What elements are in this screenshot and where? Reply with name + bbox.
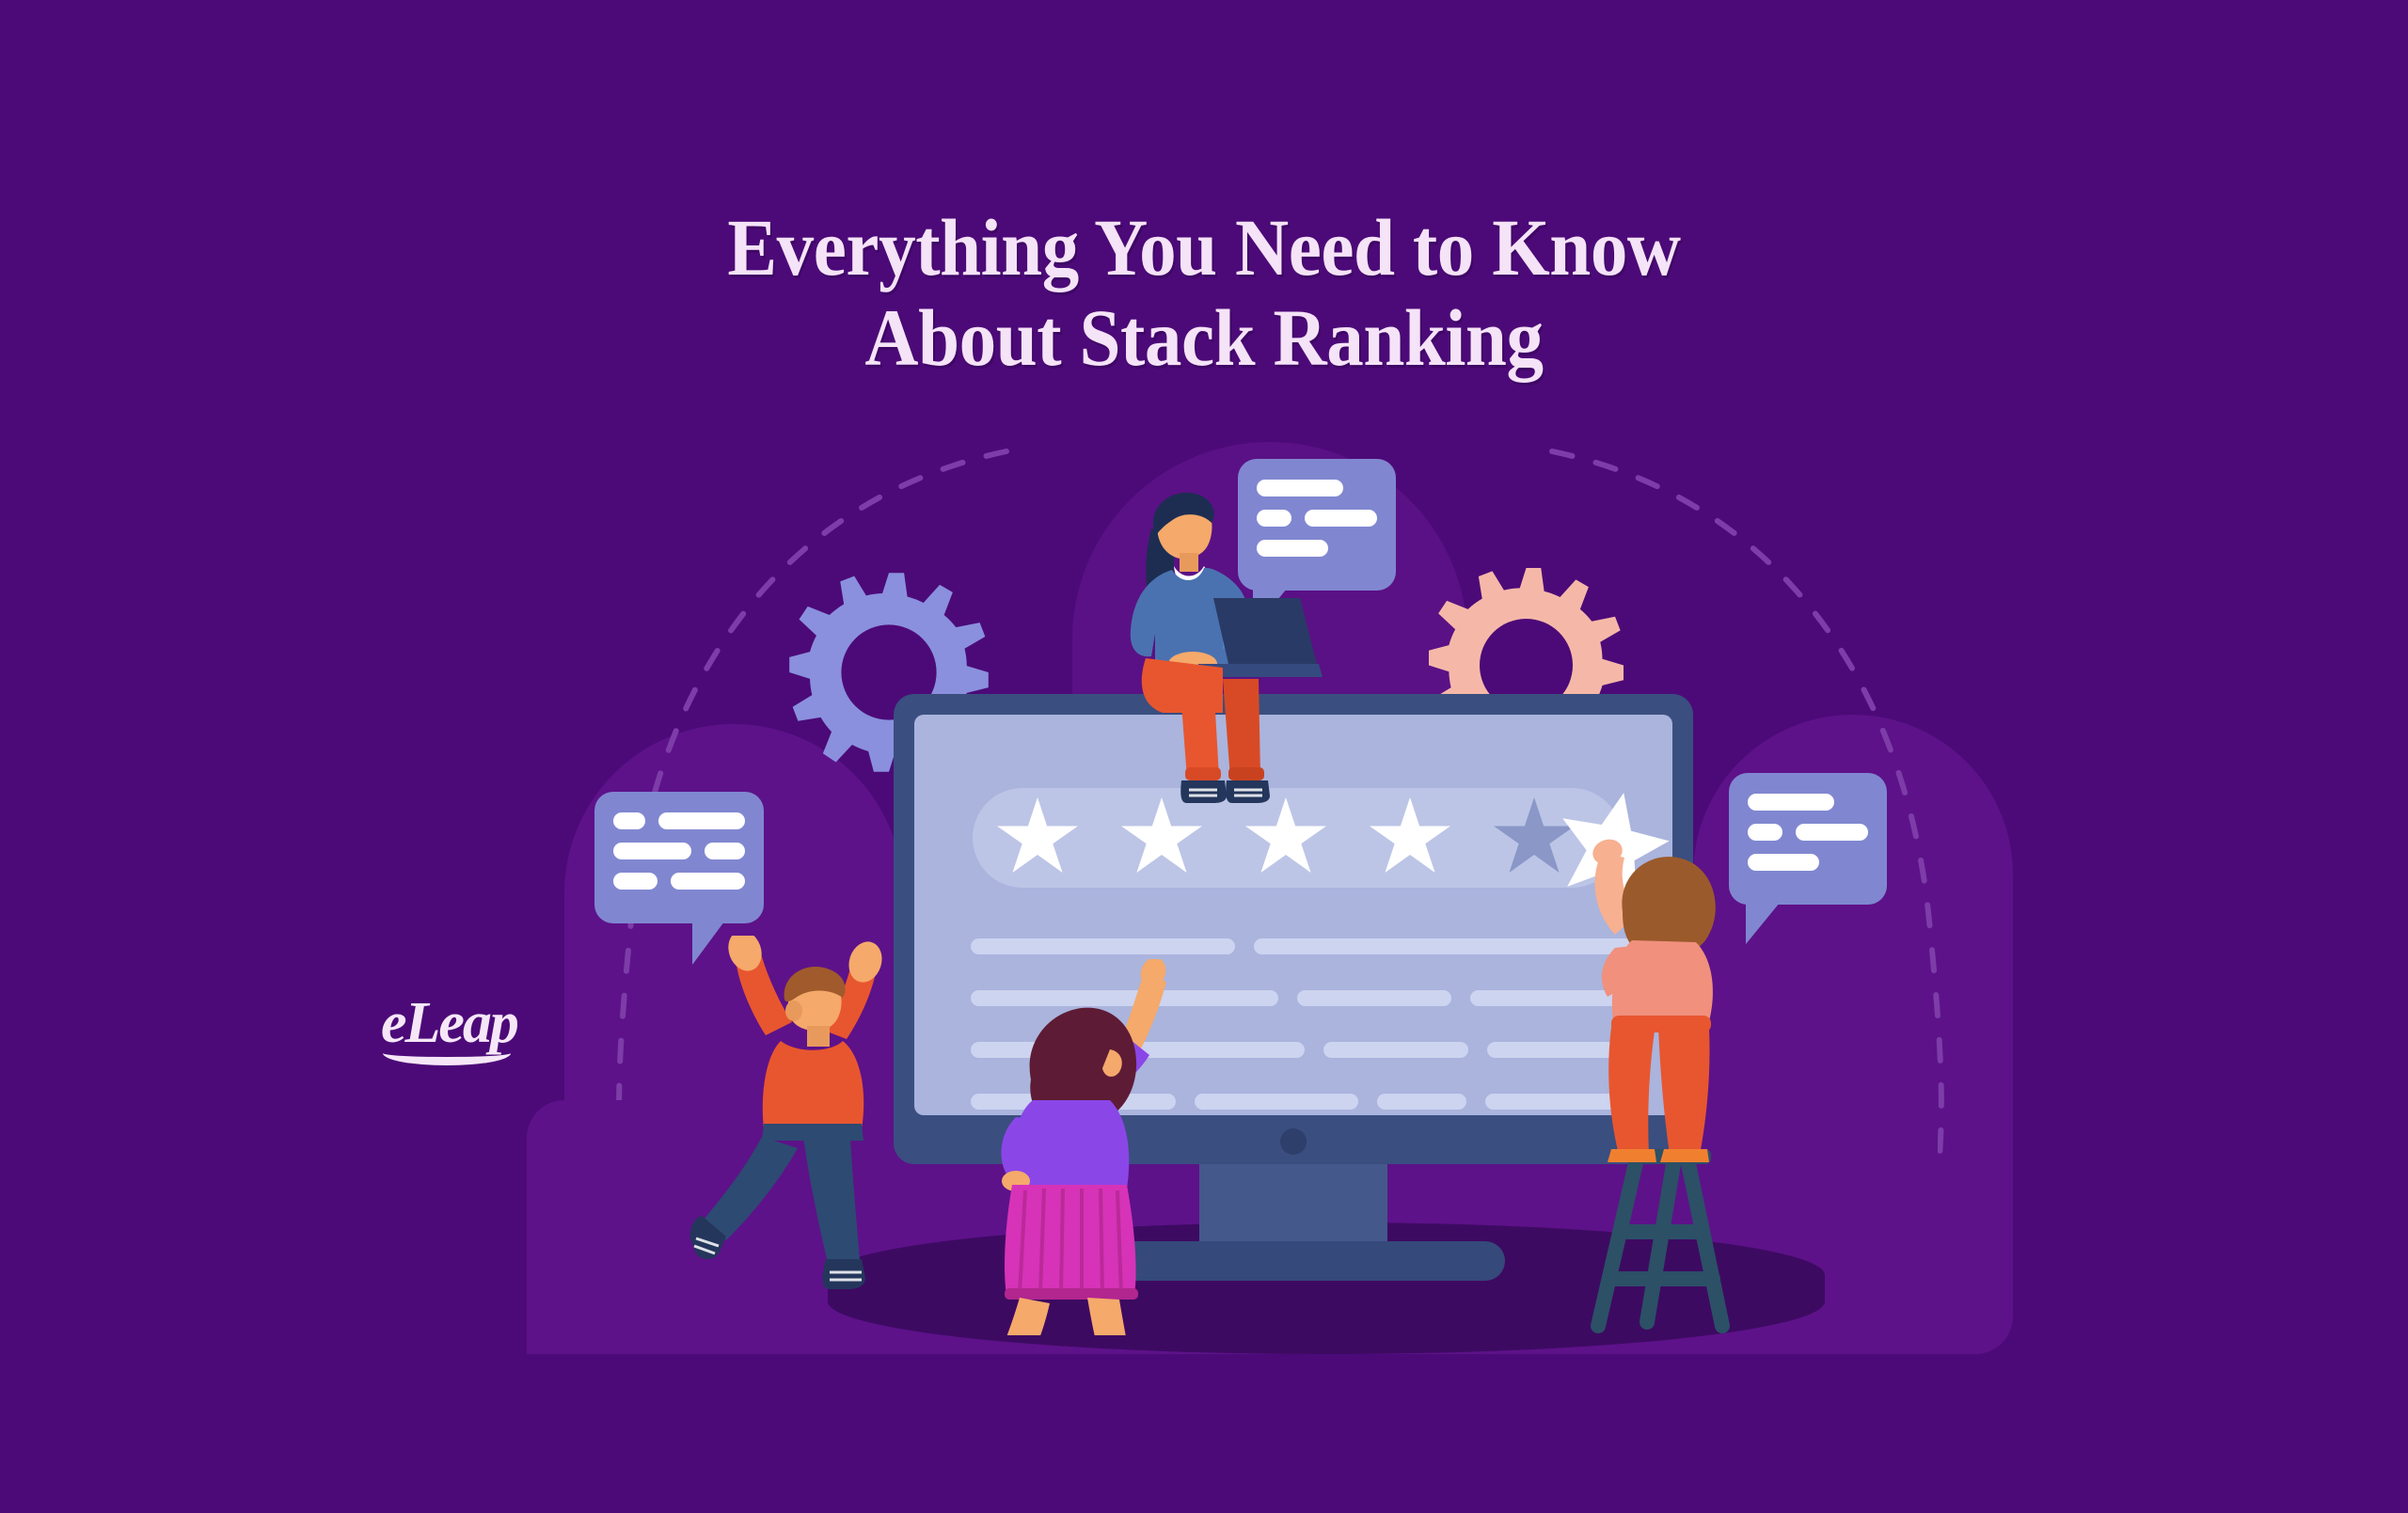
bubble-text-row	[613, 873, 745, 890]
bubble-text-row	[613, 843, 745, 859]
bubble-text-segment	[613, 812, 645, 829]
star-1[interactable]	[997, 797, 1078, 878]
logo-swoosh	[383, 1041, 511, 1065]
monitor-neck	[1199, 1164, 1387, 1249]
headline-line-2: About Stack Ranking	[96, 292, 2311, 383]
bubble-text-segment	[613, 873, 657, 890]
text-segment	[1297, 990, 1451, 1006]
person-pointing-at-screen	[978, 959, 1213, 1335]
bubble-text-segment	[705, 843, 745, 859]
person-on-monitor-with-laptop	[1082, 480, 1326, 809]
person-cheering-left	[687, 936, 922, 1312]
person-on-ladder-placing-star	[1557, 790, 1801, 1335]
eleap-logo[interactable]: eLeap	[381, 990, 517, 1057]
bubble-text-segment	[658, 812, 745, 829]
text-segment	[1377, 1094, 1467, 1110]
text-segment	[1195, 1094, 1358, 1110]
monitor-power-indicator	[1280, 1128, 1307, 1155]
star-4[interactable]	[1370, 797, 1450, 878]
page-title: Everything You Need to Know About Stack …	[96, 202, 2311, 384]
bubble-text-row	[613, 812, 745, 829]
bubble-text-segment	[613, 843, 691, 859]
bubble-text-segment	[1796, 824, 1868, 841]
star-3[interactable]	[1245, 797, 1326, 878]
headline-line-1: Everything You Need to Know	[727, 202, 1680, 292]
star-2[interactable]	[1121, 797, 1202, 878]
text-line-row	[971, 938, 1633, 954]
speech-bubble-left	[594, 792, 764, 923]
bubble-text-segment	[671, 873, 745, 890]
text-segment	[971, 938, 1235, 954]
illustration-canvas: Everything You Need to Know About Stack …	[0, 0, 2408, 1513]
text-segment	[1323, 1042, 1469, 1058]
